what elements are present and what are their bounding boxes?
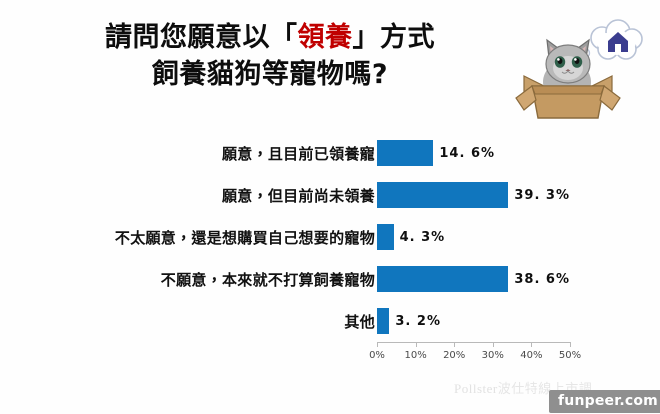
category-label-1: 願意，但目前尚未領養 bbox=[5, 185, 375, 206]
page-title: 請問您願意以「領養」方式 飼養貓狗等寵物嗎? bbox=[0, 22, 540, 91]
chart-row: 不太願意，還是想購買自己想要的寵物 4. 3% bbox=[0, 216, 660, 258]
bar-area-4: 3. 2% bbox=[377, 300, 570, 342]
chart-rows: 願意，且目前已領養寵 14. 6% 願意，但目前尚未領養 39. 3% 不太願意… bbox=[0, 132, 660, 342]
bar-value-2: 4. 3% bbox=[400, 230, 446, 245]
chart-row: 願意，但目前尚未領養 39. 3% bbox=[0, 174, 660, 216]
chart-row: 願意，且目前已領養寵 14. 6% bbox=[0, 132, 660, 174]
bar-area-3: 38. 6% bbox=[377, 258, 570, 300]
x-tick-label-1: 10% bbox=[404, 350, 426, 361]
category-label-4: 其他 bbox=[5, 311, 375, 332]
x-tick bbox=[570, 342, 571, 347]
bar-0 bbox=[377, 140, 433, 166]
bar-2 bbox=[377, 224, 394, 250]
category-label-3: 不願意，本來就不打算飼養寵物 bbox=[5, 269, 375, 290]
x-tick-label-5: 50% bbox=[559, 350, 581, 361]
poster-root: 請問您願意以「領養」方式 飼養貓狗等寵物嗎? bbox=[0, 0, 660, 414]
title-line-2: 飼養貓狗等寵物嗎? bbox=[0, 59, 540, 91]
cat-in-box-icon bbox=[494, 14, 654, 126]
x-tick bbox=[416, 342, 417, 347]
title-accent-adopt: 領養 bbox=[298, 22, 353, 53]
x-tick bbox=[454, 342, 455, 347]
bar-1 bbox=[377, 182, 508, 208]
x-tick bbox=[493, 342, 494, 347]
bar-value-3: 38. 6% bbox=[514, 272, 570, 287]
title-line-1-after: 」方式 bbox=[353, 22, 436, 53]
x-tick bbox=[531, 342, 532, 347]
x-tick-label-4: 40% bbox=[520, 350, 542, 361]
category-label-0: 願意，且目前已領養寵 bbox=[5, 143, 375, 164]
x-tick-label-0: 0% bbox=[369, 350, 385, 361]
title-line-1-before: 請問您願意以「 bbox=[105, 22, 298, 53]
bar-area-2: 4. 3% bbox=[377, 216, 570, 258]
chart-row: 其他 3. 2% bbox=[0, 300, 660, 342]
x-tick-label-3: 30% bbox=[482, 350, 504, 361]
category-label-2: 不太願意，還是想購買自己想要的寵物 bbox=[5, 227, 375, 248]
bar-value-4: 3. 2% bbox=[395, 314, 441, 329]
bar-area-1: 39. 3% bbox=[377, 174, 570, 216]
bar-area-0: 14. 6% bbox=[377, 132, 570, 174]
bar-4 bbox=[377, 308, 389, 334]
x-tick-label-2: 20% bbox=[443, 350, 465, 361]
funpeer-badge[interactable]: funpeer.com bbox=[549, 390, 660, 413]
bar-3 bbox=[377, 266, 508, 292]
bar-value-1: 39. 3% bbox=[514, 188, 570, 203]
chart-row: 不願意，本來就不打算飼養寵物 38. 6% bbox=[0, 258, 660, 300]
bar-chart: 願意，且目前已領養寵 14. 6% 願意，但目前尚未領養 39. 3% 不太願意… bbox=[0, 132, 660, 362]
x-axis: 0% 10% 20% 30% 40% 50% bbox=[377, 342, 570, 343]
watermark-latin: Pollster bbox=[454, 381, 498, 396]
x-tick bbox=[377, 342, 378, 347]
title-line-1: 請問您願意以「領養」方式 bbox=[0, 22, 540, 54]
bar-value-0: 14. 6% bbox=[439, 146, 495, 161]
